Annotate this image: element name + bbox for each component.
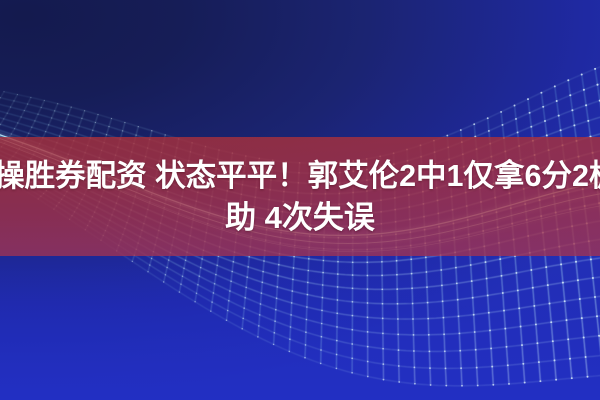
headline-line-1: 稳操胜券配资 状态平平！郭艾伦2中1仅拿6分2板2	[0, 155, 600, 197]
banner-image: 稳操胜券配资 状态平平！郭艾伦2中1仅拿6分2板2 助 4次失误	[0, 0, 600, 400]
headline-block: 稳操胜券配资 状态平平！郭艾伦2中1仅拿6分2板2 助 4次失误	[0, 137, 600, 256]
headline-line-2: 助 4次失误	[225, 197, 375, 239]
